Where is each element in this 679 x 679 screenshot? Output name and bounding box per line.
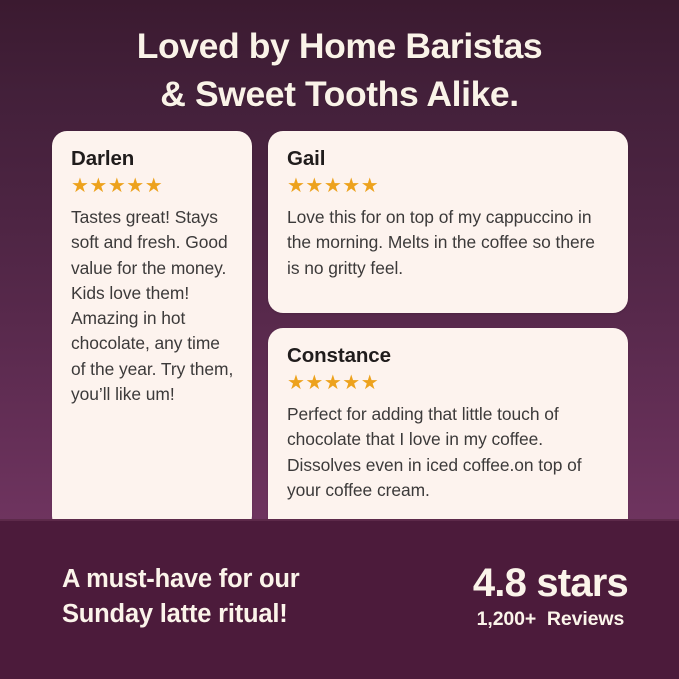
review-text: Perfect for adding that little touch of …	[287, 402, 610, 503]
review-card-gail: Gail ★★★★★ Love this for on top of my ca…	[268, 131, 628, 313]
rating-count: 1,200+ Reviews	[473, 608, 628, 631]
review-text: Love this for on top of my cappuccino in…	[287, 205, 610, 281]
headline-section: Loved by Home Baristas & Sweet Tooths Al…	[0, 0, 679, 119]
aggregate-rating-block: 4.8 stars 1,200+ Reviews	[473, 562, 632, 631]
star-rating-icon: ★★★★★	[287, 372, 610, 395]
headline-line-1: Loved by Home Baristas	[28, 22, 651, 70]
rating-score: 4.8 stars	[473, 562, 628, 605]
footer-banner: A must-have for our Sunday latte ritual!…	[0, 519, 679, 679]
reviews-grid: Darlen ★★★★★ Tastes great! Stays soft an…	[0, 119, 679, 519]
reviewer-name: Gail	[287, 147, 610, 172]
footer-tagline-block: A must-have for our Sunday latte ritual!	[62, 562, 473, 632]
review-card-darlen: Darlen ★★★★★ Tastes great! Stays soft an…	[52, 131, 252, 531]
headline-line-2: & Sweet Tooths Alike.	[28, 70, 651, 118]
star-rating-icon: ★★★★★	[287, 175, 610, 198]
reviews-column-left: Darlen ★★★★★ Tastes great! Stays soft an…	[52, 131, 252, 531]
page-title: Loved by Home Baristas & Sweet Tooths Al…	[28, 22, 651, 119]
footer-tagline: A must-have for our Sunday latte ritual!	[62, 562, 473, 632]
reviews-column-right: Gail ★★★★★ Love this for on top of my ca…	[268, 131, 628, 536]
star-rating-icon: ★★★★★	[71, 175, 234, 198]
reviewer-name: Darlen	[71, 147, 234, 172]
review-card-constance: Constance ★★★★★ Perfect for adding that …	[268, 328, 628, 536]
review-text: Tastes great! Stays soft and fresh. Good…	[71, 205, 234, 407]
reviewer-name: Constance	[287, 344, 610, 369]
footer-tagline-line-2: Sunday latte ritual!	[62, 597, 473, 632]
review-poster: Loved by Home Baristas & Sweet Tooths Al…	[0, 0, 679, 679]
footer-tagline-line-1: A must-have for our	[62, 562, 473, 597]
